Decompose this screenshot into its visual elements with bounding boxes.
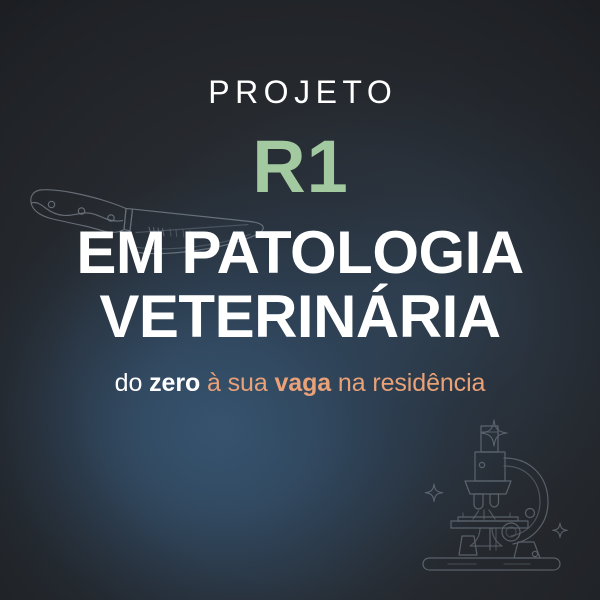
headline-line-1: EM PATOLOGIA <box>76 222 523 284</box>
headline-line-2: VETERINÁRIA <box>99 286 500 348</box>
poster-content: PROJETO R1 EM PATOLOGIA VETERINÁRIA do z… <box>0 0 600 600</box>
subtitle-part-do: do <box>115 369 149 397</box>
subtitle: do zero à sua vaga na residência <box>115 371 486 396</box>
eyebrow-label: PROJETO <box>203 76 398 108</box>
subtitle-part-na-residencia: na residência <box>331 369 485 397</box>
subtitle-part-vaga: vaga <box>274 369 331 397</box>
badge-r1: R1 <box>251 130 349 204</box>
poster-canvas: PROJETO R1 EM PATOLOGIA VETERINÁRIA do z… <box>0 0 600 600</box>
subtitle-part-a-sua: à sua <box>200 369 274 397</box>
subtitle-part-zero: zero <box>149 369 200 397</box>
